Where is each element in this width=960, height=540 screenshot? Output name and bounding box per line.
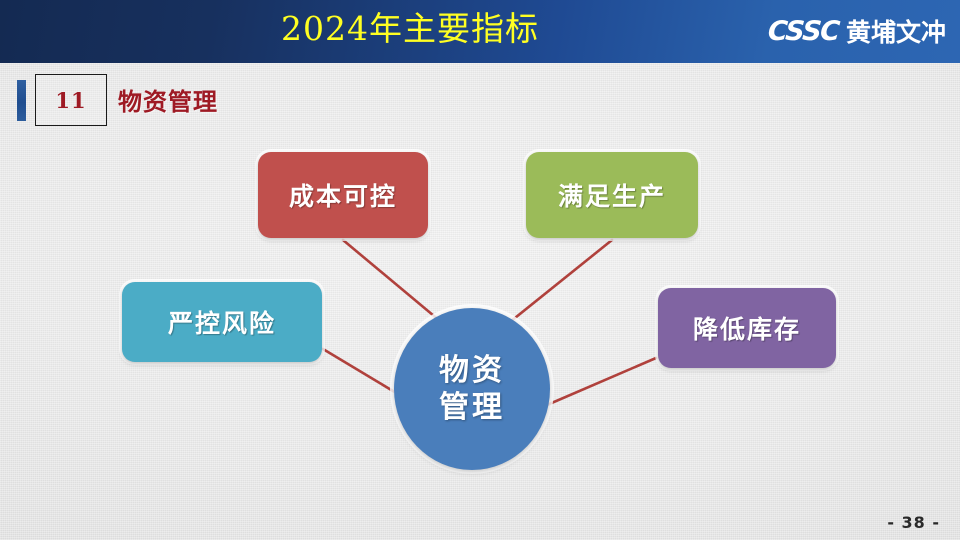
node-label: 成本可控: [289, 177, 397, 213]
section-accent-bar: [17, 80, 26, 121]
logo-chinese-text: 黄埔文冲: [846, 13, 946, 49]
connector-line-1: [505, 240, 612, 326]
center-label-line2: 管理: [439, 392, 505, 424]
node-cost-control[interactable]: 成本可控: [258, 152, 428, 238]
logo-latin-text: CSSC: [767, 16, 840, 47]
section-heading: 11 物资管理: [0, 72, 520, 128]
section-number: 11: [55, 88, 86, 113]
node-label: 严控风险: [168, 304, 276, 340]
connector-line-0: [343, 240, 446, 326]
node-reduce-inventory[interactable]: 降低库存: [658, 288, 836, 368]
slide-canvas: 2024年主要指标 CSSC 黄埔文冲 11 物资管理 成本可控 满足生产: [0, 0, 960, 540]
node-meet-production[interactable]: 满足生产: [526, 152, 698, 238]
company-logo: CSSC 黄埔文冲: [768, 13, 946, 49]
page-number: - 38 -: [887, 513, 940, 532]
hub-and-spoke-diagram: 成本可控 满足生产 严控风险 降低库存 物资 管理: [0, 130, 960, 500]
connector-line-3: [540, 358, 656, 408]
section-title: 物资管理: [118, 82, 218, 117]
center-label-line1: 物资: [439, 355, 505, 387]
node-risk-control[interactable]: 严控风险: [122, 282, 322, 362]
section-number-box: 11: [35, 74, 107, 126]
center-hub-node[interactable]: 物资 管理: [394, 308, 550, 470]
slide-header: 2024年主要指标 CSSC 黄埔文冲: [0, 0, 960, 63]
node-label: 降低库存: [693, 310, 801, 346]
node-label: 满足生产: [558, 177, 666, 213]
